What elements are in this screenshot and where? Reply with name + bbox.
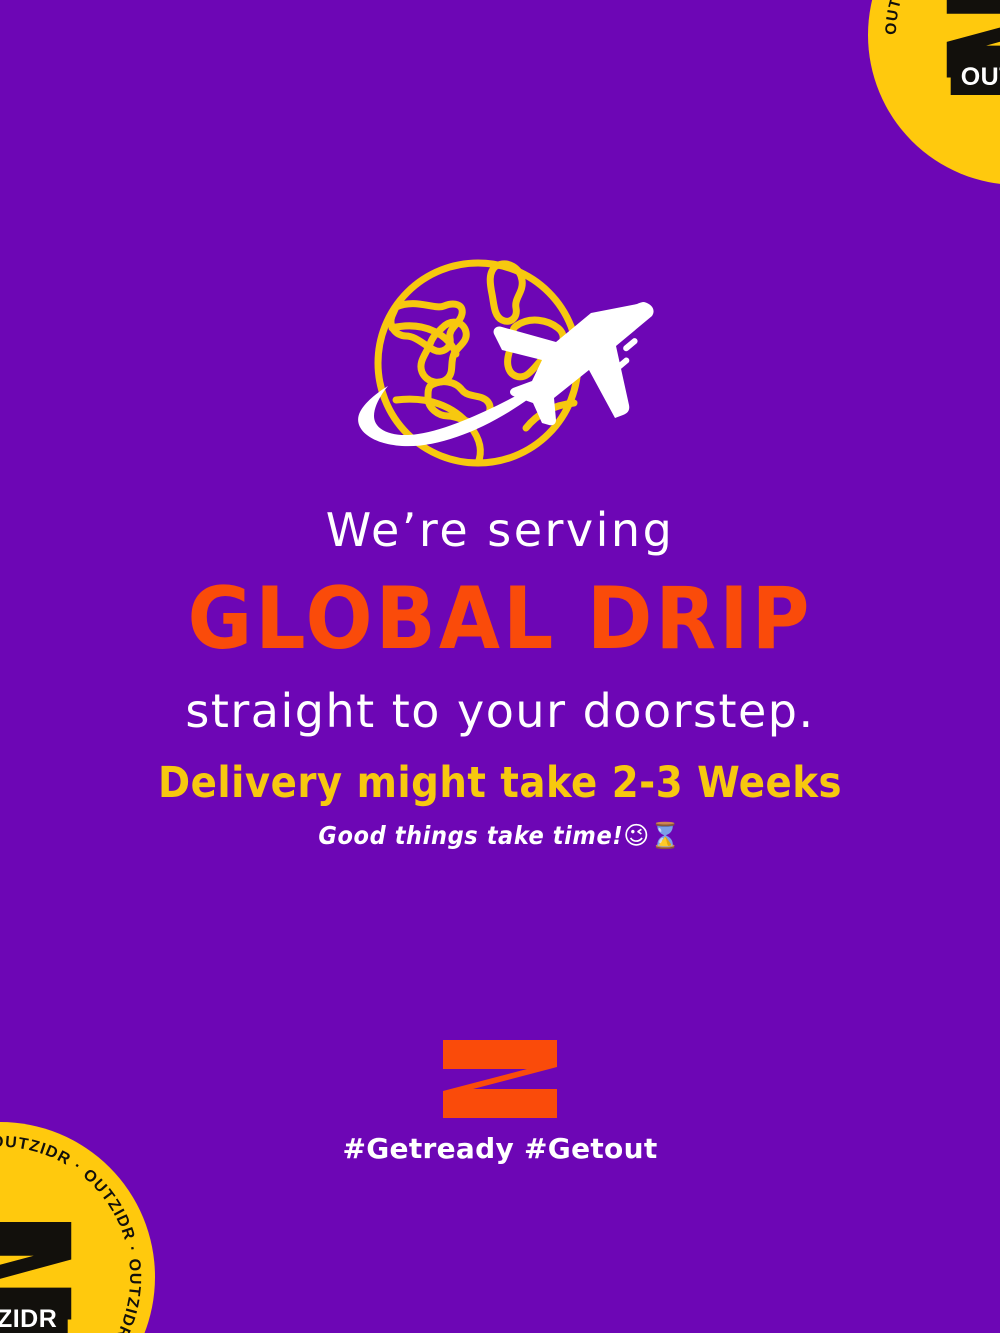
brand-badge-top-right: OUTZIDR · OUTZIDR · OUTZIDR · OUTZIDR · … <box>868 0 1000 185</box>
airplane-glyph <box>494 302 654 425</box>
badge-wordmark-bottom-left: OUTZIDR <box>0 1303 67 1333</box>
delivery-notice: Delivery might take 2-3 Weeks <box>0 760 1000 807</box>
footer-tagline: #Getready #Getout <box>0 1132 1000 1165</box>
delivery-notice-block: Delivery might take 2-3 Weeks Good thing… <box>0 760 1000 851</box>
headline-eyebrow: We’re serving <box>0 505 1000 556</box>
headline-block: We’re serving GLOBAL DRIP straight to yo… <box>0 505 1000 736</box>
globe-airplane-icon <box>330 250 670 480</box>
delivery-reassurance-text: Good things take time! <box>318 821 623 850</box>
footer-block: #Getready #Getout <box>0 1040 1000 1165</box>
hourglass-icon: ⌛ <box>650 821 682 850</box>
wink-face-icon: 😉 <box>623 821 650 850</box>
headline-subline: straight to your doorstep. <box>0 686 1000 737</box>
badge-wordmark-top-right: OUTZIDR <box>951 61 1000 95</box>
headline-main: GLOBAL DRIP <box>0 576 1000 662</box>
promo-poster: OUTZIDR · OUTZIDR · OUTZIDR · OUTZIDR · … <box>0 0 1000 1333</box>
delivery-reassurance-line: Good things take time!😉⌛ <box>0 821 1000 851</box>
brand-z-logo-icon <box>443 1040 557 1118</box>
